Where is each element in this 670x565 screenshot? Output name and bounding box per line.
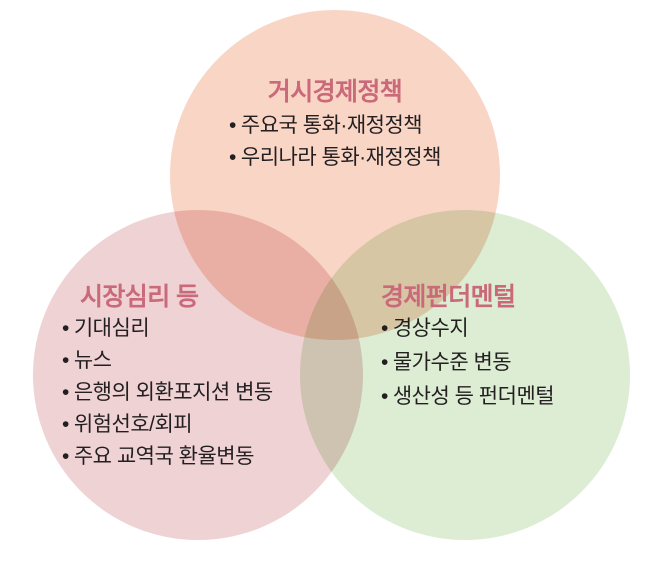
bullet-icon: • [381, 318, 388, 339]
list-item-label: 물가수준 변동 [393, 352, 511, 373]
list-item: • 경상수지 [381, 318, 651, 339]
list-item: • 물가수준 변동 [381, 352, 651, 373]
list-item-label: 경상수지 [393, 318, 468, 339]
bullet-icon: • [62, 350, 69, 371]
venn-group-title-sentiment: 시장심리 등 [62, 283, 352, 311]
list-item: • 은행의 외환포지션 변동 [62, 382, 352, 403]
list-item-label: 뉴스 [74, 350, 112, 371]
list-item: • 위험선호/회피 [62, 414, 352, 435]
venn-group-fundamentals: 경제펀더멘털 • 경상수지 • 물가수준 변동 • 생산성 등 펀더멘털 [381, 283, 651, 420]
list-item: • 주요 교역국 환율변동 [62, 446, 352, 467]
venn-diagram: 거시경제정책 • 주요국 통화·재정정책 • 우리나라 통화·재정정책 시장심리… [0, 0, 670, 565]
list-item-label: 주요 교역국 환율변동 [74, 446, 254, 467]
venn-group-title-macro: 거시경제정책 [0, 78, 670, 106]
list-item-label: 위험선호/회피 [74, 414, 192, 435]
list-item-label: 주요국 통화·재정정책 [241, 115, 422, 136]
list-item: • 주요국 통화·재정정책 [229, 115, 441, 136]
list-item-label: 우리나라 통화·재정정책 [241, 147, 441, 168]
venn-group-title-fundamentals: 경제펀더멘털 [381, 283, 651, 311]
bullet-icon: • [62, 382, 69, 403]
venn-item-list-sentiment: • 기대심리 • 뉴스 • 은행의 외환포지션 변동 • 위험선호/회피 • [62, 318, 352, 467]
list-item: • 기대심리 [62, 318, 352, 339]
bullet-icon: • [381, 386, 388, 407]
bullet-icon: • [229, 115, 236, 136]
venn-item-list-fundamentals: • 경상수지 • 물가수준 변동 • 생산성 등 펀더멘털 [381, 318, 651, 407]
venn-group-sentiment: 시장심리 등 • 기대심리 • 뉴스 • 은행의 외환포지션 변동 • 위험선호… [62, 283, 352, 478]
bullet-icon: • [229, 147, 236, 168]
bullet-icon: • [62, 318, 69, 339]
bullet-icon: • [62, 414, 69, 435]
list-item: • 뉴스 [62, 350, 352, 371]
venn-group-macro: 거시경제정책 • 주요국 통화·재정정책 • 우리나라 통화·재정정책 [0, 78, 670, 179]
venn-item-list-macro: • 주요국 통화·재정정책 • 우리나라 통화·재정정책 [229, 115, 441, 179]
list-item-label: 생산성 등 펀더멘털 [393, 386, 554, 407]
bullet-icon: • [381, 352, 388, 373]
list-item: • 생산성 등 펀더멘털 [381, 386, 651, 407]
list-item-label: 은행의 외환포지션 변동 [74, 382, 273, 403]
list-item-label: 기대심리 [74, 318, 149, 339]
list-item: • 우리나라 통화·재정정책 [229, 147, 441, 168]
venn-text-layer: 거시경제정책 • 주요국 통화·재정정책 • 우리나라 통화·재정정책 시장심리… [0, 0, 670, 565]
bullet-icon: • [62, 446, 69, 467]
